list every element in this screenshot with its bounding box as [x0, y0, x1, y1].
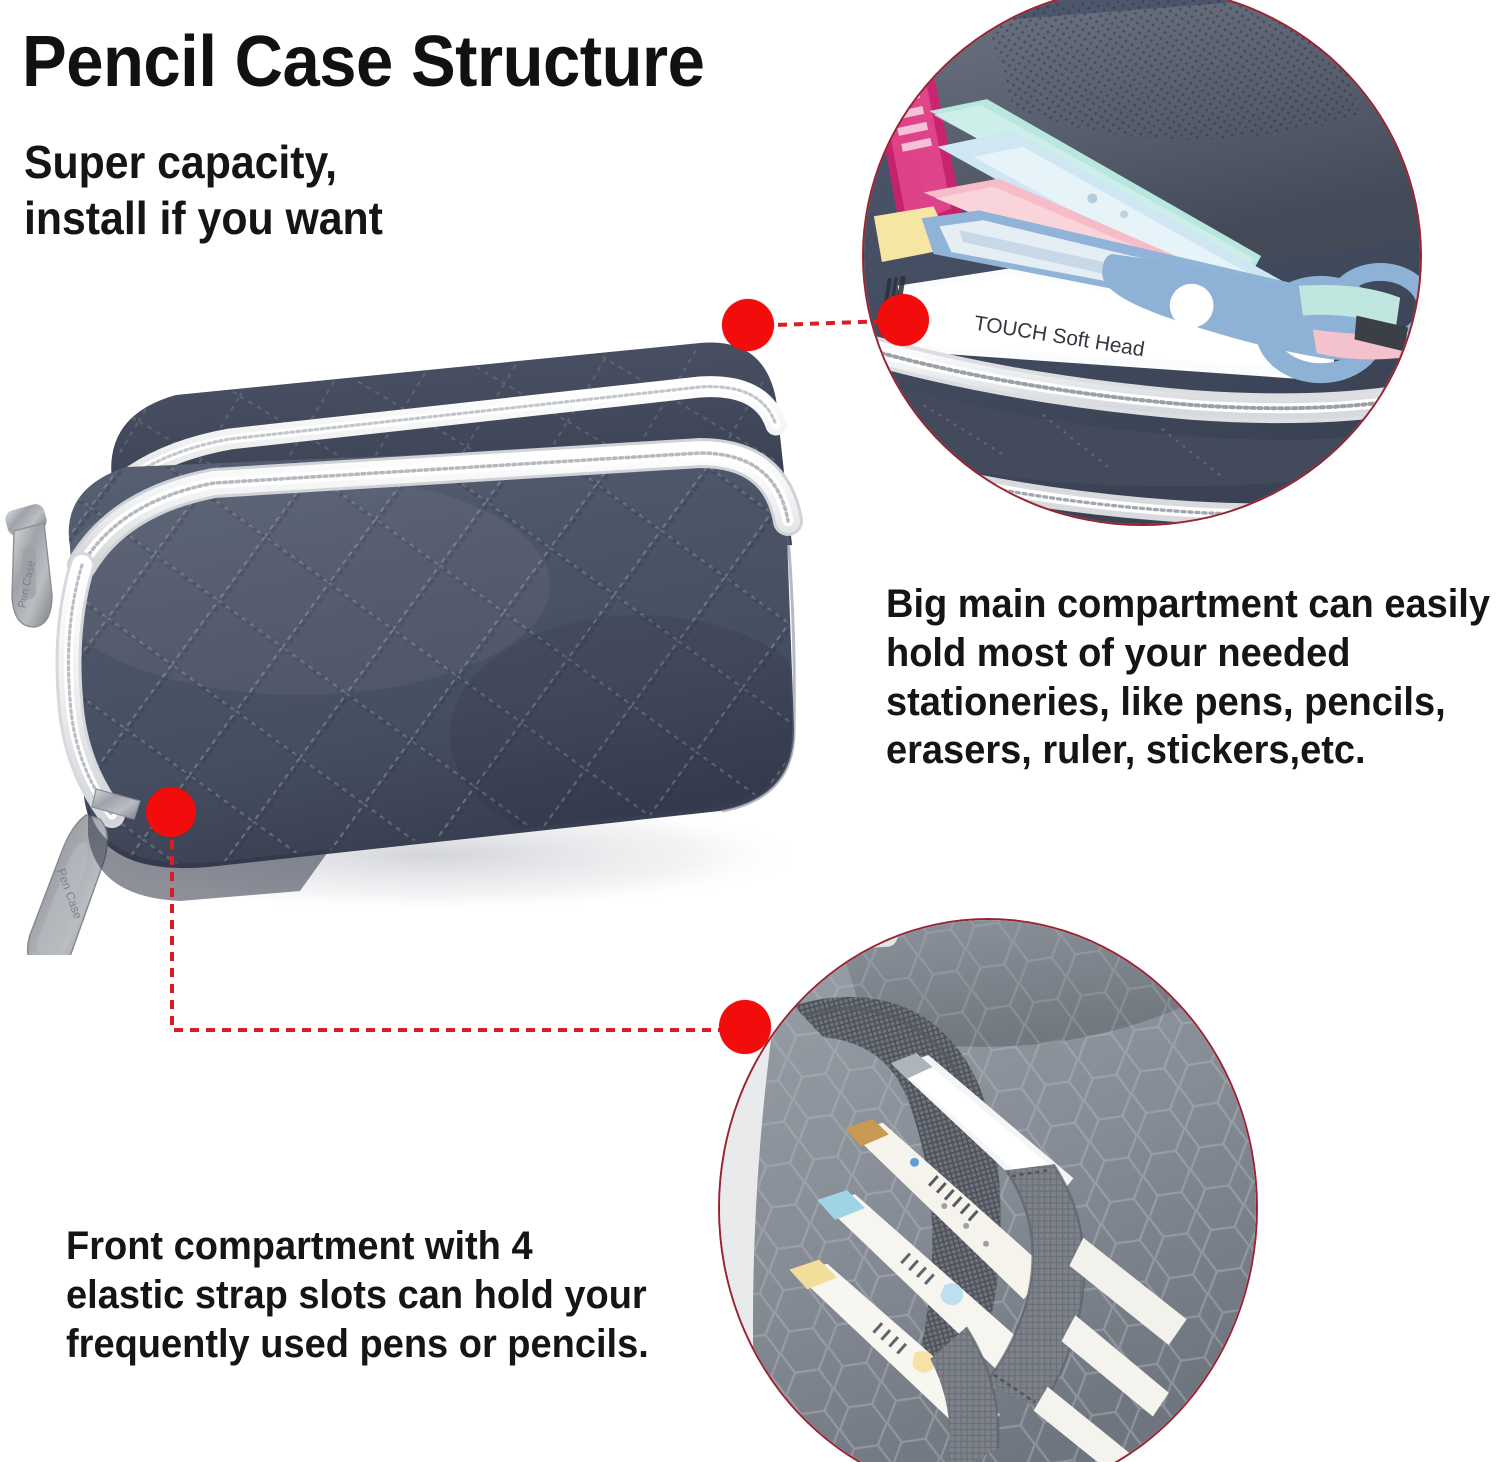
infographic-page: Pen Case Pen Case [0, 0, 1500, 1462]
marker-dot-case-front-zipper [146, 787, 196, 837]
page-subtitle: Super capacity, install if you want [24, 134, 383, 246]
inset-photo-front-compartment [718, 918, 1258, 1462]
callout-text-main-compartment: Big main compartment can easily hold mos… [886, 580, 1494, 775]
marker-dot-inset-front-compartment [719, 1000, 771, 1054]
inset-photo-main-compartment: TOUCH Soft Head [862, 0, 1422, 526]
marker-dot-inset-main-compartment [877, 294, 929, 346]
product-photo-pencil-case: Pen Case Pen Case [0, 295, 880, 955]
page-title: Pencil Case Structure [22, 26, 704, 98]
callout-text-front-compartment: Front compartment with 4 elastic strap s… [66, 1222, 655, 1368]
marker-dot-case-main-zipper [722, 299, 774, 351]
